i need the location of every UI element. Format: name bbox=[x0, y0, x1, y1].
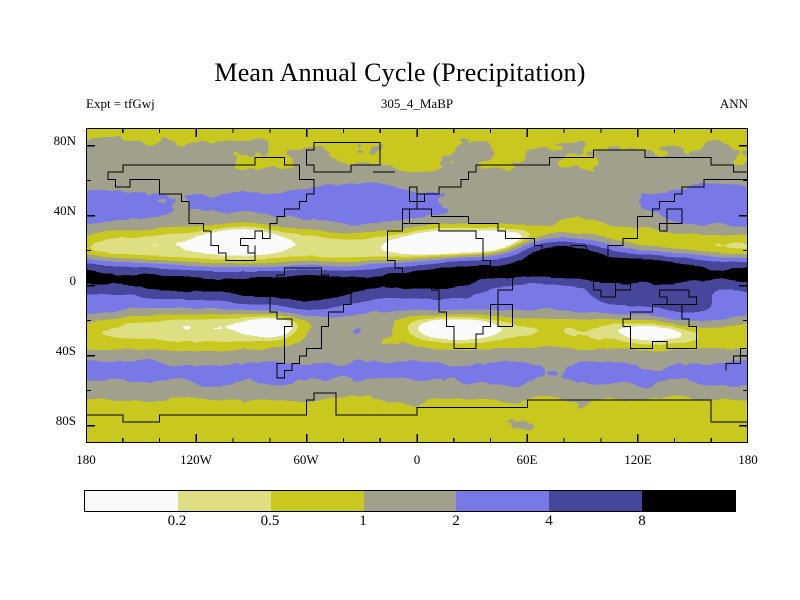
y-tick-label-80s: 80S bbox=[30, 413, 76, 429]
x-tick-label-0: 0 bbox=[377, 452, 457, 468]
colorbar-tick-3: 2 bbox=[431, 513, 481, 530]
subtitle-row: Expt = tfGwj 305_4_MaBP ANN bbox=[86, 96, 748, 114]
x-tick-label-120w: 120W bbox=[156, 452, 236, 468]
x-tick-label-120e: 120E bbox=[598, 452, 678, 468]
page-title: Mean Annual Cycle (Precipitation) bbox=[0, 58, 800, 88]
season-label: ANN bbox=[720, 96, 748, 112]
precipitation-map bbox=[86, 128, 748, 443]
y-tick-label-80n: 80N bbox=[30, 133, 76, 149]
colorbar-band-0 bbox=[85, 491, 178, 511]
colorbar-band-4 bbox=[456, 491, 549, 511]
colorbar-tick-0: 0.2 bbox=[152, 513, 202, 530]
case-label: 305_4_MaBP bbox=[86, 96, 748, 112]
x-tick-label-60e: 60E bbox=[487, 452, 567, 468]
colorbar-band-5 bbox=[549, 491, 642, 511]
y-tick-label-40s: 40S bbox=[30, 343, 76, 359]
figure-root: Mean Annual Cycle (Precipitation) Expt =… bbox=[0, 0, 800, 600]
contour-fill-layer bbox=[86, 128, 748, 443]
colorbar-tick-5: 8 bbox=[617, 513, 667, 530]
colorbar-band-2 bbox=[271, 491, 364, 511]
colorbar-band-6 bbox=[642, 491, 735, 511]
x-tick-label-180e: 180 bbox=[708, 452, 788, 468]
colorbar-tick-4: 4 bbox=[524, 513, 574, 530]
colorbar-labels: 0.2 0.5 1 2 4 8 bbox=[84, 513, 736, 535]
y-tick-label-40n: 40N bbox=[30, 203, 76, 219]
colorbar bbox=[84, 490, 736, 512]
colorbar-band-1 bbox=[178, 491, 271, 511]
colorbar-band-3 bbox=[364, 491, 457, 511]
x-tick-label-60w: 60W bbox=[266, 452, 346, 468]
colorbar-tick-2: 1 bbox=[338, 513, 388, 530]
x-tick-label-180w: 180 bbox=[46, 452, 126, 468]
y-tick-label-0: 0 bbox=[30, 273, 76, 289]
colorbar-tick-1: 0.5 bbox=[245, 513, 295, 530]
